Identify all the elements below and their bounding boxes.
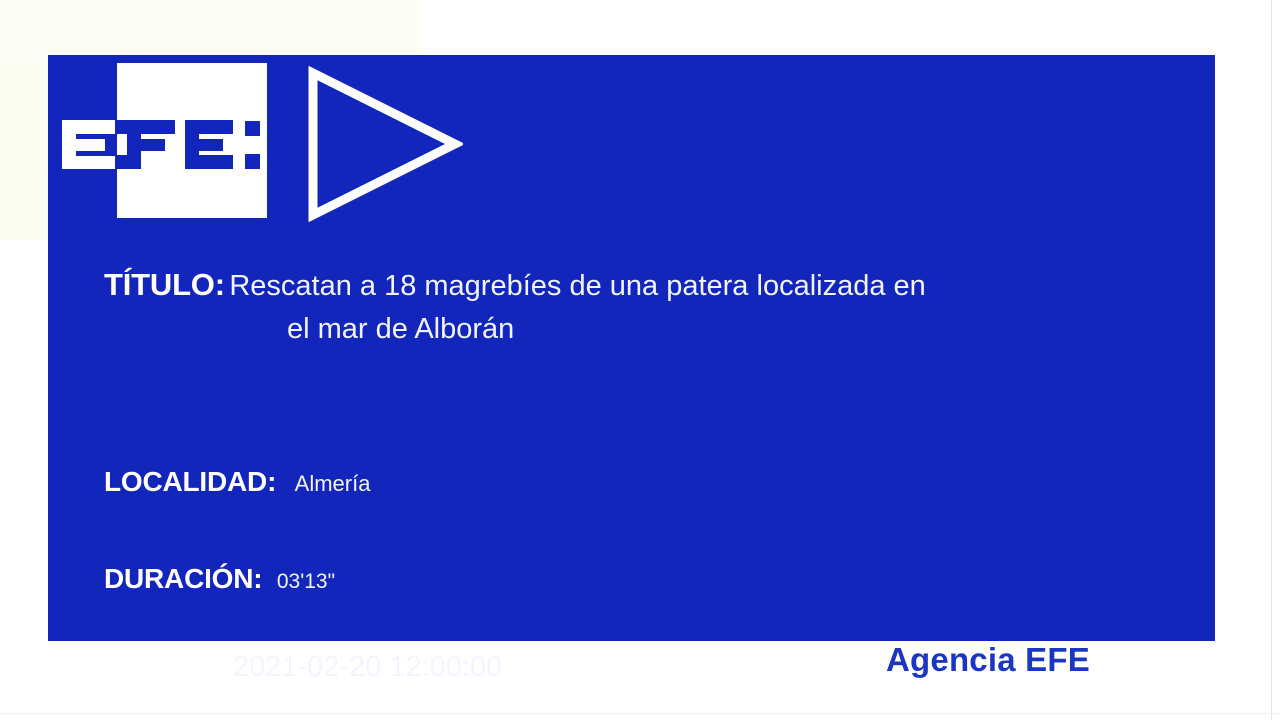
frame-edge-bottom bbox=[0, 713, 1280, 714]
logo-letter-e-outer bbox=[62, 120, 115, 169]
background-tint-top bbox=[0, 0, 420, 60]
field-fecha-label: FECHA: bbox=[104, 648, 216, 683]
field-titulo-value-line1: Rescatan a 18 magrebíes de una patera lo… bbox=[229, 270, 925, 302]
frame-edge-right bbox=[1271, 0, 1272, 720]
field-localidad-label: LOCALIDAD: bbox=[104, 466, 276, 497]
agency-credit: Agencia EFE bbox=[886, 641, 1090, 679]
field-titulo-value-line2: el mar de Alborán bbox=[104, 308, 1214, 350]
field-fecha-value: 2021-02-20 12:00:00 bbox=[221, 651, 502, 683]
field-titulo: TÍTULO: Rescatan a 18 magrebíes de una p… bbox=[104, 263, 1214, 350]
field-duracion: DURACIÓN: 03'13" bbox=[104, 563, 335, 595]
play-triangle-icon bbox=[303, 65, 463, 223]
field-fecha: FECHA: 2021-02-20 12:00:00 bbox=[104, 648, 502, 684]
field-titulo-label: TÍTULO: bbox=[104, 267, 225, 302]
field-localidad-value: Almería bbox=[281, 471, 371, 496]
field-duracion-value: 03'13" bbox=[267, 570, 335, 593]
background-tint-left bbox=[0, 60, 48, 240]
field-localidad: LOCALIDAD: Almería bbox=[104, 466, 370, 498]
efe-logo bbox=[55, 63, 475, 223]
field-duracion-label: DURACIÓN: bbox=[104, 563, 262, 594]
video-info-card: TÍTULO: Rescatan a 18 magrebíes de una p… bbox=[48, 55, 1215, 641]
